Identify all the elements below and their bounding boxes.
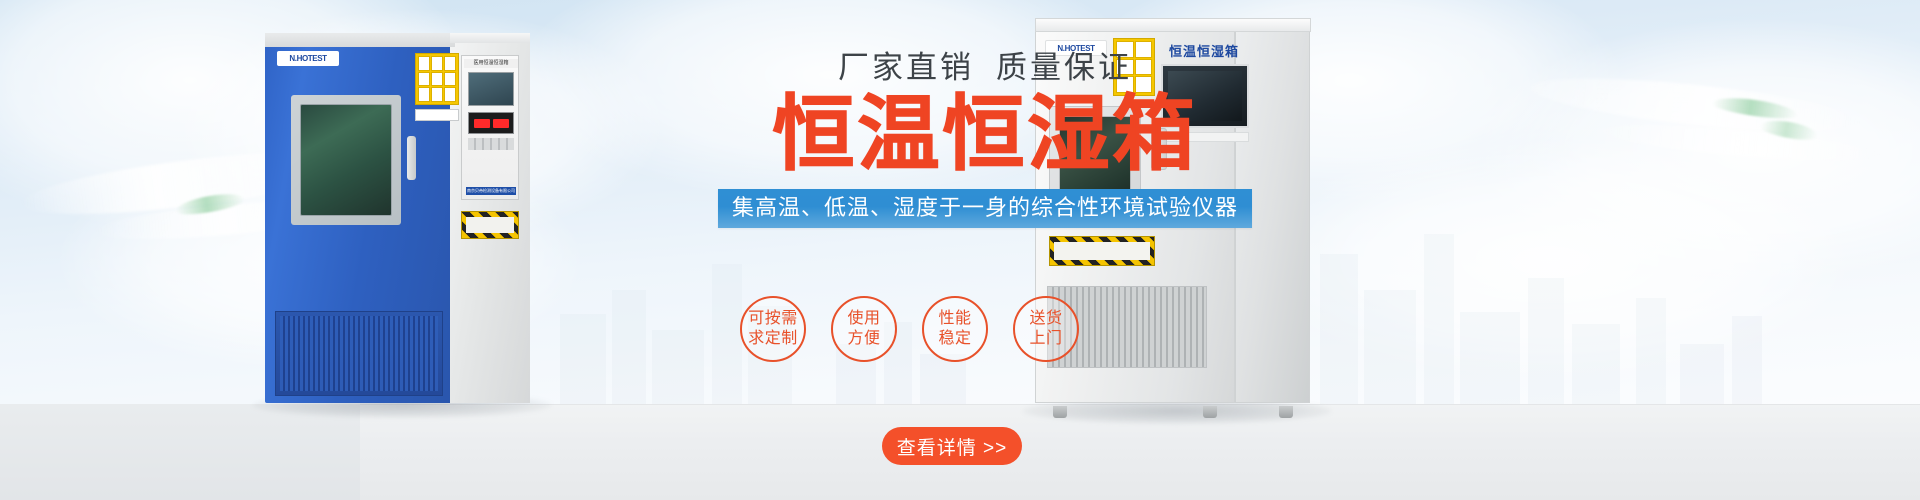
feature-badge-line1: 使用 — [847, 309, 880, 329]
control-panel-footer: 南京贝帝检测设备有限公司 — [466, 187, 516, 195]
cloud-decoration — [1480, 20, 1920, 280]
feature-badge-line2: 上门 — [1029, 329, 1062, 349]
chamber-foot — [1203, 406, 1217, 418]
leaf-icon — [1711, 94, 1798, 122]
feature-badge-line2: 方便 — [847, 329, 880, 349]
banner-text-block: 厂家直销质量保证 恒温恒湿箱 集高温、低温、湿度于一身的综合性环境试验仪器 — [705, 52, 1265, 228]
chamber-top-cap — [265, 33, 455, 47]
feature-badge-line2: 稳定 — [938, 329, 971, 349]
control-panel-title: 医用恒温恒湿箱 — [464, 59, 518, 68]
control-panel-screen — [468, 72, 514, 106]
feature-badge-line1: 可按需 — [748, 309, 798, 329]
control-panel: 医用恒温恒湿箱 南京贝帝检测设备有限公司 — [461, 55, 519, 200]
hazard-stripe-plate — [461, 211, 519, 239]
feature-badge[interactable]: 可按需 求定制 — [740, 296, 806, 362]
spec-plate — [415, 109, 459, 121]
feature-badge-line2: 求定制 — [748, 329, 798, 349]
feature-badge-line1: 性能 — [938, 309, 971, 329]
chamber-top-cap — [1035, 18, 1311, 32]
banner-headline: 恒温恒湿箱 — [705, 93, 1265, 177]
control-panel-buttons — [468, 138, 514, 150]
hazard-label — [1054, 242, 1150, 260]
eyebrow-left-text: 厂家直销 — [838, 52, 974, 83]
feature-badge-line1: 送货 — [1029, 309, 1062, 329]
door-handle — [407, 136, 416, 180]
vent-louvers — [280, 316, 438, 391]
feature-badge[interactable]: 使用 方便 — [831, 296, 897, 362]
chamber-view-window — [300, 104, 392, 216]
chamber-foot — [1279, 406, 1293, 418]
view-details-button[interactable]: 查看详情 >> — [882, 427, 1022, 465]
wind-swoosh-decoration — [1599, 118, 1880, 168]
leaf-icon — [1759, 117, 1819, 143]
chamber-foot — [1053, 406, 1067, 418]
banner-eyebrow: 厂家直销质量保证 — [705, 52, 1265, 83]
chamber-top-cap-side — [450, 33, 530, 43]
ground-strip-left — [0, 404, 360, 500]
warning-sticker-grid — [415, 53, 459, 105]
leaf-icon — [174, 190, 246, 218]
feature-badge-list: 可按需 求定制 使用 方便 性能 稳定 送货 上门 — [740, 296, 1079, 362]
eyebrow-right-text: 质量保证 — [996, 52, 1132, 83]
cloud-decoration — [1250, 140, 1850, 380]
hazard-label — [466, 217, 514, 233]
banner-subtitle: 集高温、低温、湿度于一身的综合性环境试验仪器 — [718, 189, 1252, 228]
digital-readout — [468, 112, 514, 134]
product-brand-logo: N.HOTEST — [277, 51, 339, 66]
feature-badge[interactable]: 性能 稳定 — [922, 296, 988, 362]
chamber-lower-vent-panel — [275, 311, 443, 396]
product-image-left-chamber: N.HOTEST 医用恒温恒湿箱 南京贝帝检测设备有限公司 — [265, 33, 530, 403]
chamber-door — [291, 95, 401, 225]
hazard-stripe-plate — [1049, 236, 1155, 266]
promo-banner: N.HOTEST 医用恒温恒湿箱 南京贝帝检测设备有限公司 N.HOTEST — [0, 0, 1920, 500]
feature-badge[interactable]: 送货 上门 — [1013, 296, 1079, 362]
